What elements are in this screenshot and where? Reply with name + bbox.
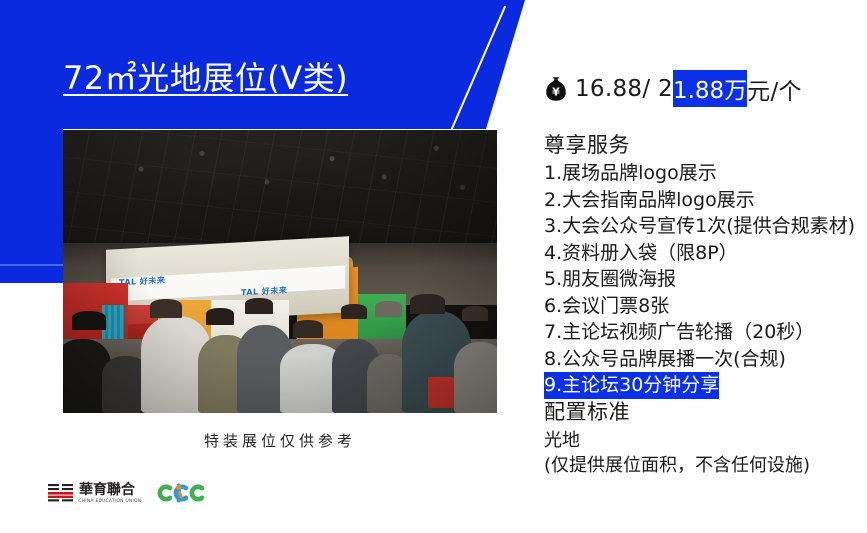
union-logo-cn: 華育聯合	[79, 483, 141, 497]
config-line: 光地	[544, 428, 810, 453]
list-item: 5.朋友圈微海报	[544, 266, 676, 293]
list-item: 2.大会指南品牌logo展示	[544, 187, 755, 214]
union-logo-text: 華育聯合 CHINA EDUCATION UNION	[79, 483, 141, 503]
union-emblem-icon	[48, 483, 74, 503]
photo-caption: 特装展位仅供参考	[63, 430, 497, 451]
price-prefix: 16.88/ 2	[575, 76, 673, 102]
exhibition-photo: TAL 好未来 TAL 好未来	[63, 130, 497, 413]
config-list: 光地 (仅提供展位面积，不含任何设施)	[544, 428, 810, 478]
services-heading: 尊享服务	[544, 129, 630, 159]
svg-text:¥: ¥	[552, 85, 560, 98]
price-row: ¥ 16.88/ 21.88万元/个	[544, 70, 802, 107]
price-highlighted[interactable]: 1.88万	[673, 70, 747, 107]
list-item: 6.会议门票8张	[544, 293, 669, 320]
blue-panel-hairline	[0, 264, 63, 266]
china-education-union-logo: 華育聯合 CHINA EDUCATION UNION	[48, 483, 141, 503]
list-item: 8.公众号品牌展播一次(合规)	[544, 346, 786, 373]
list-item-highlighted[interactable]: 9.主论坛30分钟分享	[544, 372, 719, 399]
list-item: 4.资料册入袋（限8P）	[544, 240, 738, 267]
config-heading: 配置标准	[544, 396, 630, 426]
money-bag-icon: ¥	[544, 76, 568, 102]
footer-logos: 華育聯合 CHINA EDUCATION UNION	[48, 482, 205, 504]
photo-vignette	[63, 130, 497, 413]
cdc-logo	[155, 482, 205, 504]
services-list: 1.展场品牌logo展示 2.大会指南品牌logo展示 3.大会公众号宣传1次(…	[544, 160, 855, 399]
union-logo-en: CHINA EDUCATION UNION	[78, 499, 141, 503]
list-item: 3.大会公众号宣传1次(提供合规素材)	[544, 213, 855, 240]
list-item: 7.主论坛视频广告轮播（20秒）	[544, 319, 814, 346]
details-panel: ¥ 16.88/ 21.88万元/个 尊享服务 1.展场品牌logo展示 2.大…	[536, 0, 867, 533]
config-line: (仅提供展位面积，不含任何设施)	[544, 453, 810, 478]
price-suffix: 元/个	[747, 72, 802, 106]
list-item: 1.展场品牌logo展示	[544, 160, 717, 187]
page-title: 72㎡光地展位(V类)	[63, 58, 348, 98]
